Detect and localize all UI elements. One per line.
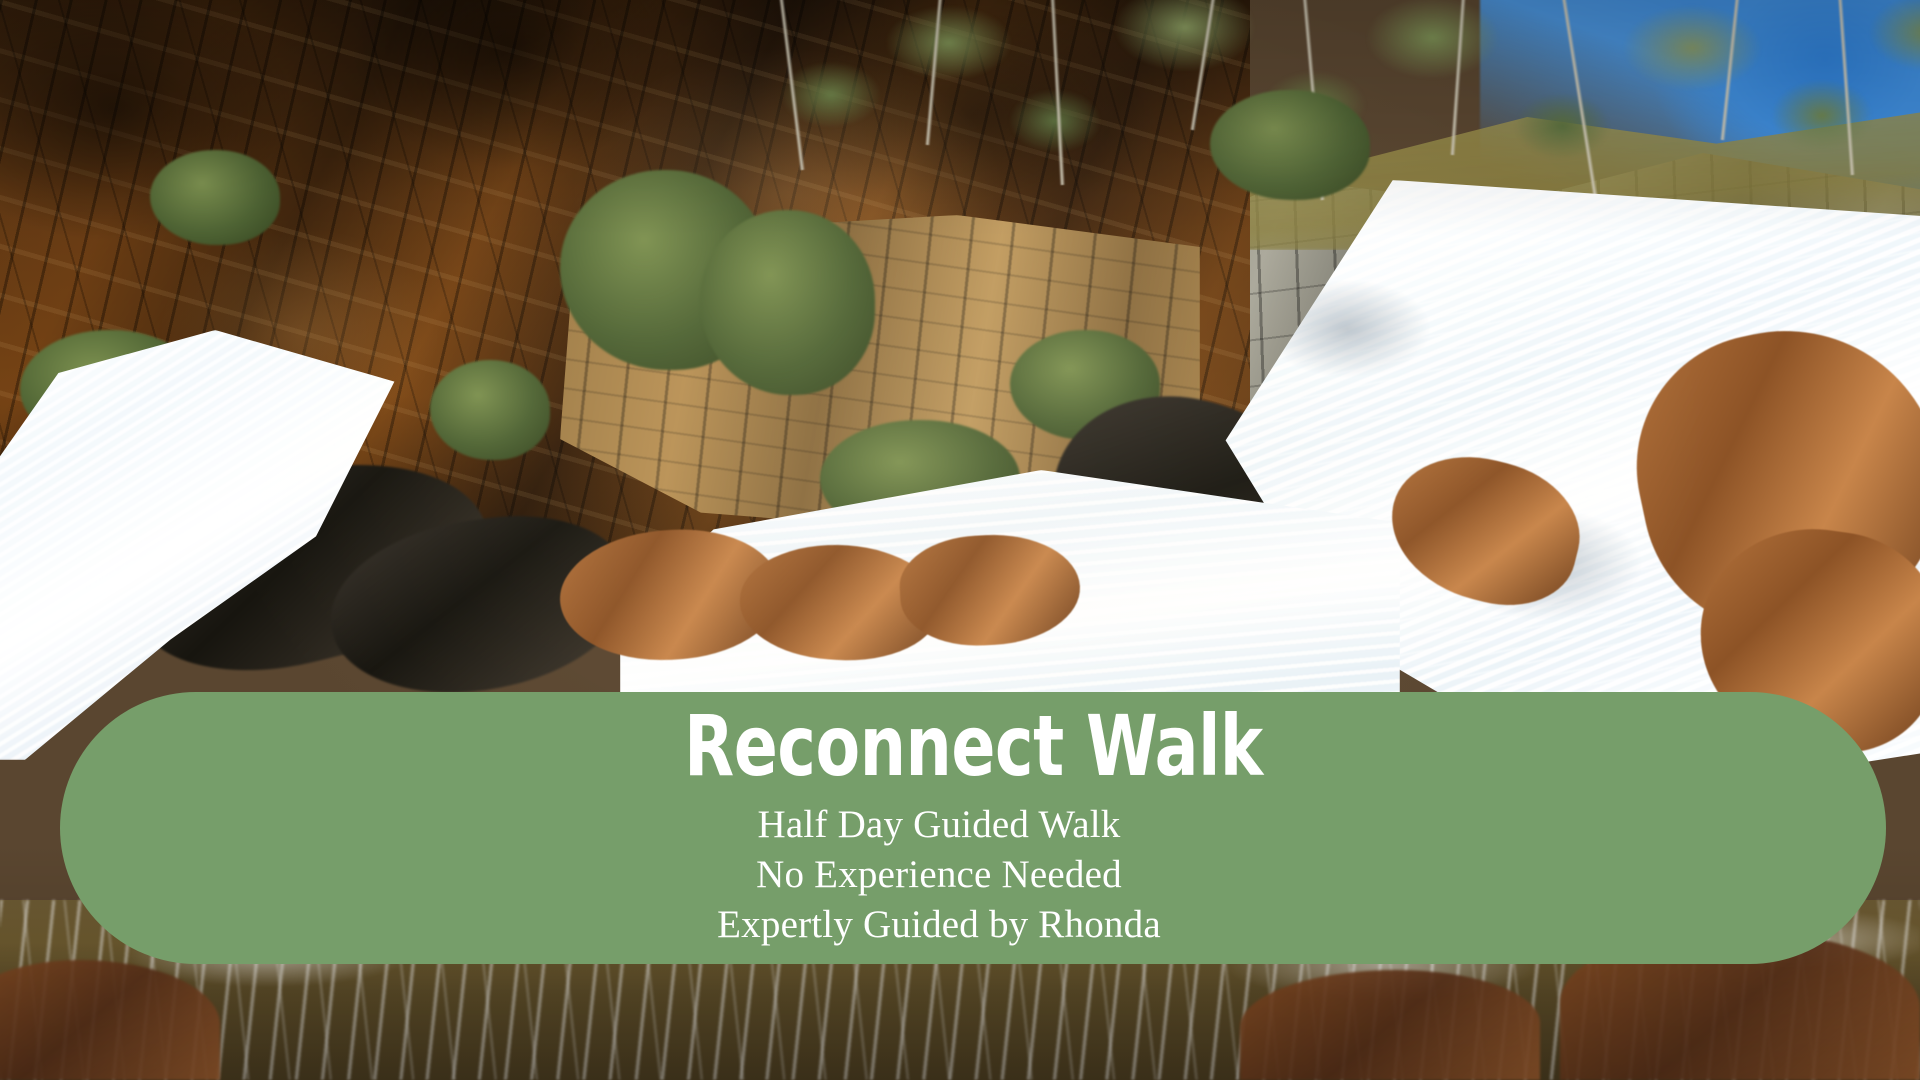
- poster-canvas: Reconnect Walk Half Day Guided Walk No E…: [0, 0, 1920, 1080]
- subtitle-line-1: Half Day Guided Walk: [758, 800, 1121, 850]
- page-title: Reconnect Walk: [684, 704, 1263, 788]
- subtitle-line-2: No Experience Needed: [756, 850, 1122, 900]
- shrub: [1210, 90, 1370, 200]
- title-banner: Reconnect Walk Half Day Guided Walk No E…: [60, 692, 1886, 964]
- subtitle-line-3: Expertly Guided by Rhonda: [717, 900, 1161, 950]
- shrub: [700, 210, 875, 395]
- shrub: [150, 150, 280, 245]
- subtitle-block: Half Day Guided Walk No Experience Neede…: [717, 800, 1161, 950]
- shrub: [430, 360, 550, 460]
- stream-rock: [1240, 970, 1540, 1080]
